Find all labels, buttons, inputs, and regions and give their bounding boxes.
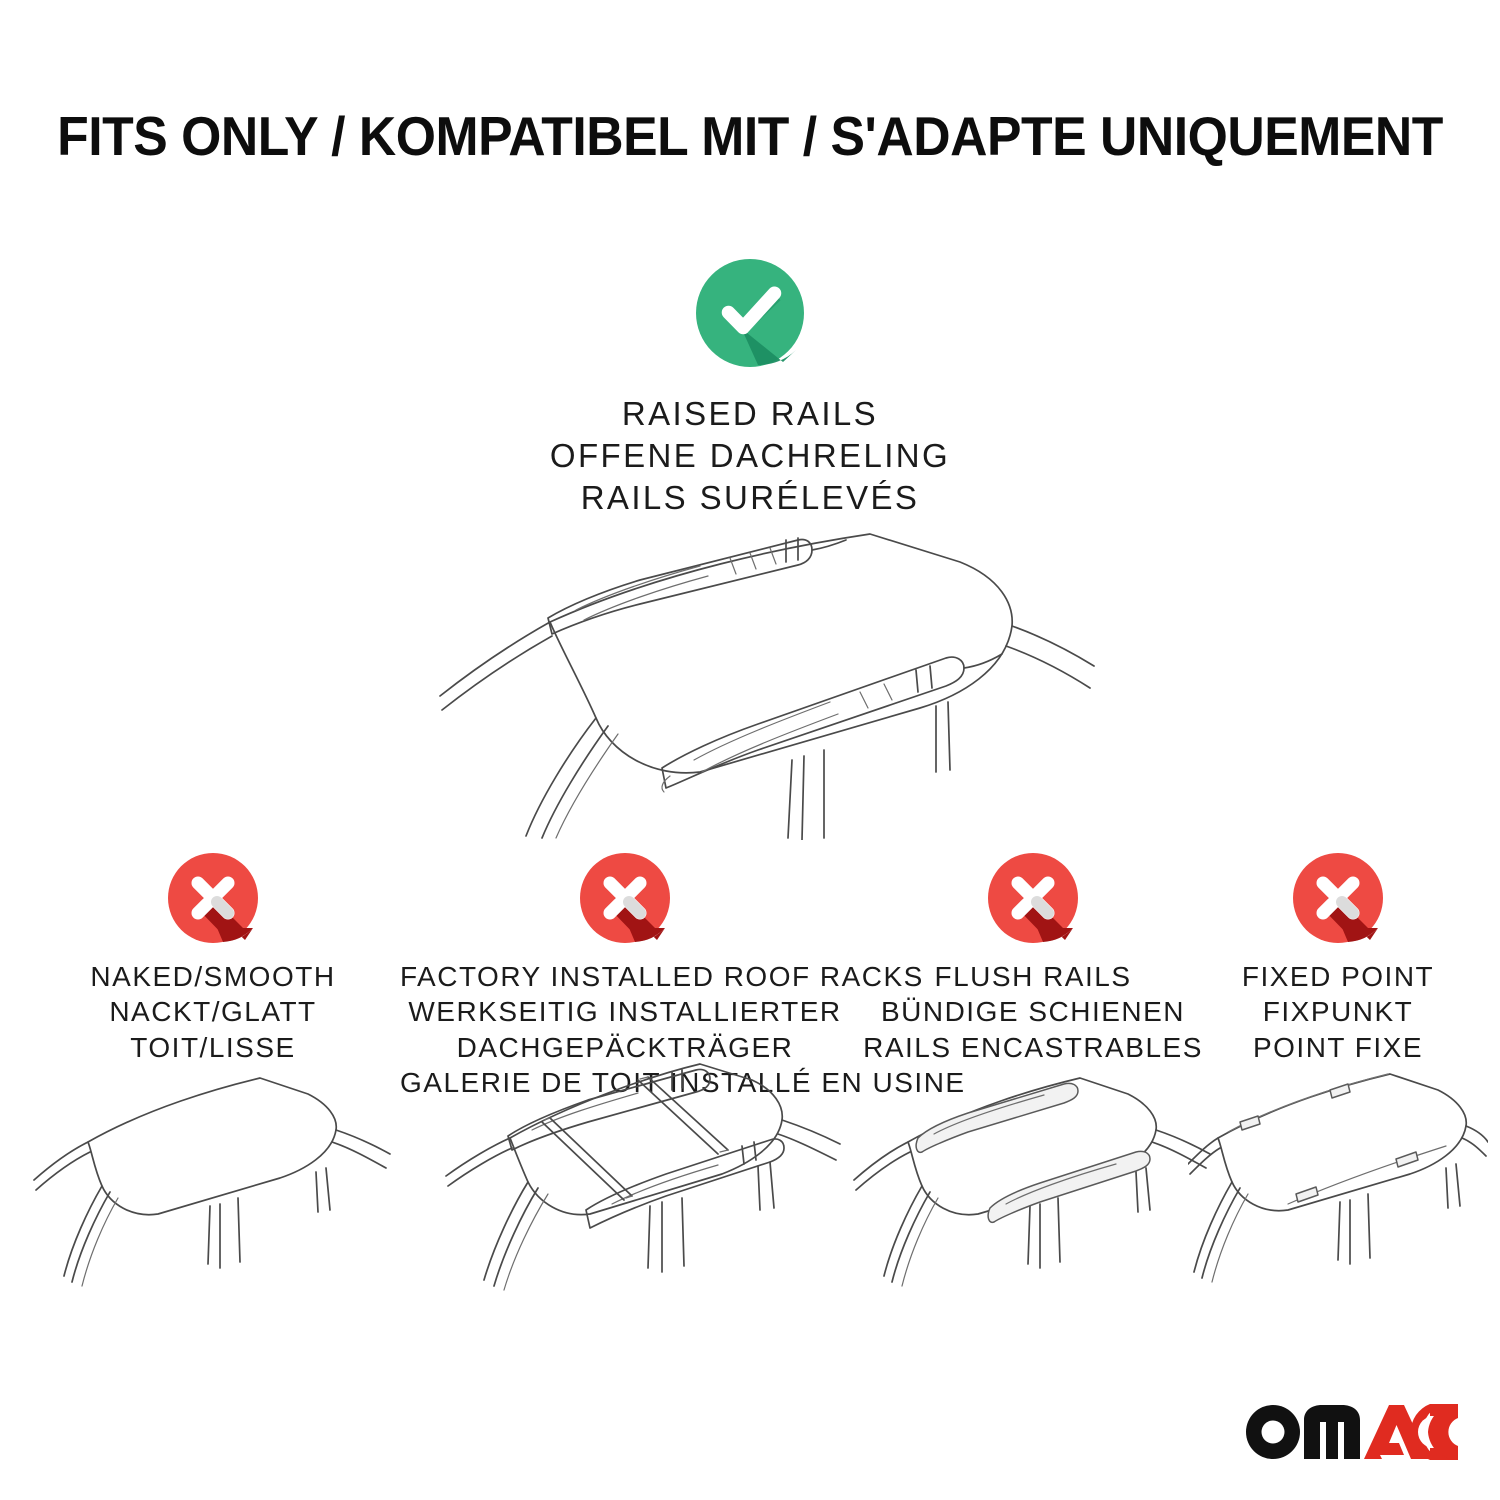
incompatible-item-fixed-point: FIXED POINT FIXPUNKT POINT FIXE (1188, 852, 1488, 1065)
incompatible-label-de: FIXPUNKT (1188, 994, 1488, 1029)
car-roof-fixed-point-illustration (1188, 1064, 1488, 1304)
x-circle-icon (1292, 852, 1384, 944)
car-roof-factory-rack-illustration (400, 1042, 850, 1282)
incompatible-section: NAKED/SMOOTH NACKT/GLATT TOIT/LISSE (0, 852, 1500, 1312)
incompatible-label-en: FACTORY INSTALLED ROOF RACKS (400, 959, 850, 994)
x-circle-icon (167, 852, 259, 944)
incompatible-labels: NAKED/SMOOTH NACKT/GLATT TOIT/LISSE (28, 959, 398, 1065)
incompatible-item-naked-smooth: NAKED/SMOOTH NACKT/GLATT TOIT/LISSE (28, 852, 398, 1065)
x-circle-icon (987, 852, 1079, 944)
incompatible-label-fr: POINT FIXE (1188, 1030, 1488, 1065)
x-circle-icon (579, 852, 671, 944)
page-title: FITS ONLY / KOMPATIBEL MIT / S'ADAPTE UN… (45, 104, 1455, 168)
compatible-section: RAISED RAILS OFFENE DACHRELING RAILS SUR… (0, 258, 1500, 520)
car-roof-flush-rails-illustration (848, 1064, 1218, 1304)
omac-logo (1244, 1400, 1458, 1462)
fitment-infographic: FITS ONLY / KOMPATIBEL MIT / S'ADAPTE UN… (0, 0, 1500, 1500)
incompatible-label-de: BÜNDIGE SCHIENEN (848, 994, 1218, 1029)
car-roof-raised-rails-illustration (400, 500, 1100, 840)
incompatible-label-fr: RAILS ENCASTRABLES (848, 1030, 1218, 1065)
incompatible-item-factory-rack: FACTORY INSTALLED ROOF RACKS WERKSEITIG … (400, 852, 850, 1100)
incompatible-item-flush-rails: FLUSH RAILS BÜNDIGE SCHIENEN RAILS ENCAS… (848, 852, 1218, 1065)
incompatible-label-en: NAKED/SMOOTH (28, 959, 398, 994)
incompatible-label-fr: TOIT/LISSE (28, 1030, 398, 1065)
compatible-label-de: OFFENE DACHRELING (0, 435, 1500, 477)
check-circle-icon (695, 258, 805, 368)
incompatible-label-de: NACKT/GLATT (28, 994, 398, 1029)
compatible-label-en: RAISED RAILS (0, 393, 1500, 435)
incompatible-labels: FIXED POINT FIXPUNKT POINT FIXE (1188, 959, 1488, 1065)
incompatible-label-en: FLUSH RAILS (848, 959, 1218, 994)
incompatible-label-de-1: WERKSEITIG INSTALLIERTER (400, 994, 850, 1029)
incompatible-label-en: FIXED POINT (1188, 959, 1488, 994)
car-roof-naked-smooth-illustration (28, 1064, 398, 1304)
incompatible-labels: FLUSH RAILS BÜNDIGE SCHIENEN RAILS ENCAS… (848, 959, 1218, 1065)
